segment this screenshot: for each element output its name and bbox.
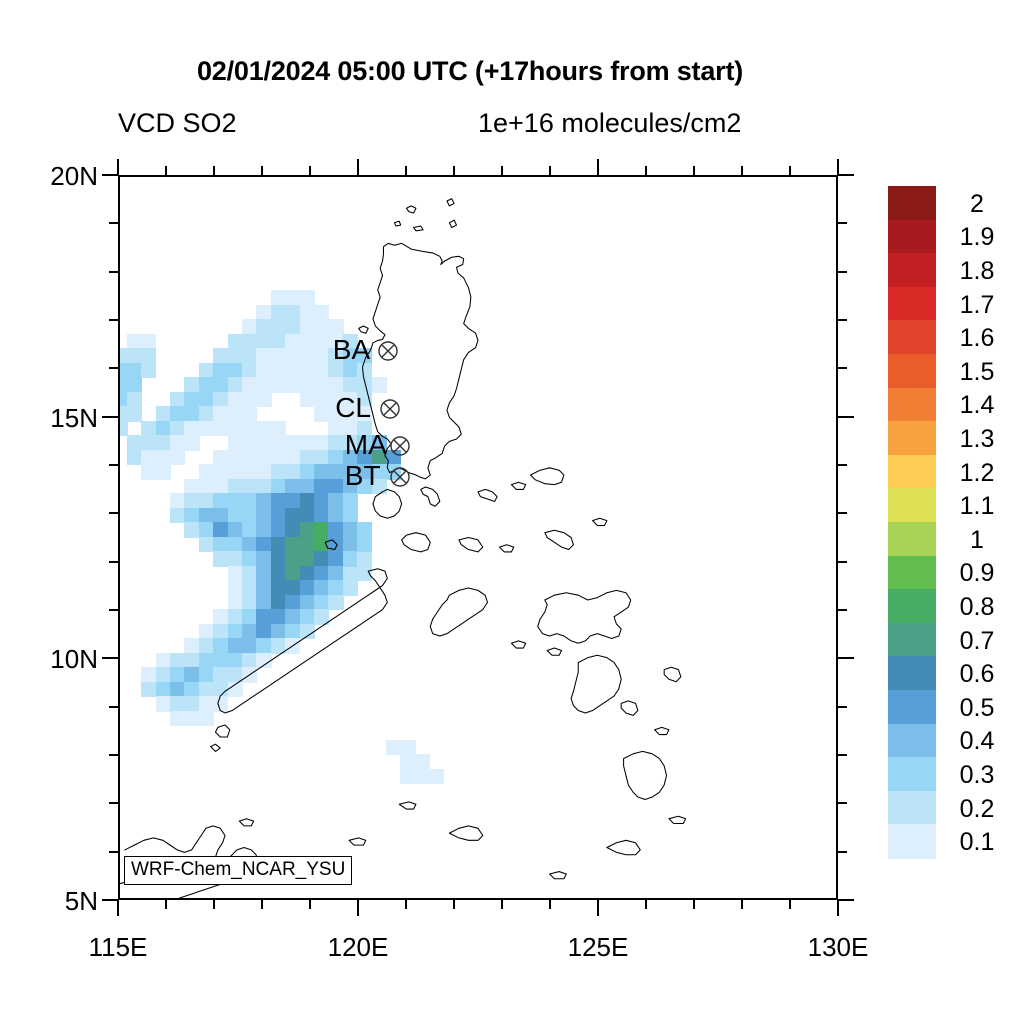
colorbar-band bbox=[888, 623, 936, 657]
axis-tick bbox=[109, 802, 118, 804]
axis-tick bbox=[102, 416, 118, 418]
axis-tick bbox=[597, 900, 599, 916]
axis-tick bbox=[789, 900, 791, 909]
colorbar-band bbox=[888, 253, 936, 287]
colorbar-tick-label: 1.9 bbox=[940, 223, 1014, 252]
colorbar-tick-label: 1.1 bbox=[940, 492, 1014, 521]
colorbar-tick-label: 0.4 bbox=[940, 727, 1014, 756]
colorbar-tick-label: 1.5 bbox=[940, 358, 1014, 387]
axis-tick bbox=[117, 900, 119, 916]
y-axis-tick-label: 15N bbox=[6, 403, 98, 434]
axis-tick bbox=[838, 174, 854, 176]
axis-tick bbox=[838, 706, 847, 708]
axis-tick bbox=[838, 512, 847, 514]
axis-tick bbox=[109, 319, 118, 321]
axis-tick bbox=[261, 166, 263, 175]
station-marker-cl[interactable] bbox=[379, 398, 401, 420]
axis-tick bbox=[741, 900, 743, 909]
axis-tick bbox=[213, 166, 215, 175]
colorbar-tick-label: 1.7 bbox=[940, 291, 1014, 320]
colorbar-band bbox=[888, 220, 936, 254]
colorbar-band bbox=[888, 757, 936, 791]
axis-tick bbox=[261, 900, 263, 909]
axis-tick bbox=[109, 464, 118, 466]
colorbar-band bbox=[888, 724, 936, 758]
axis-tick bbox=[549, 166, 551, 175]
station-label-ma: MA bbox=[345, 431, 387, 459]
station-marker-ba[interactable] bbox=[377, 340, 399, 362]
colorbar-band bbox=[888, 320, 936, 354]
axis-tick bbox=[453, 900, 455, 909]
axis-tick bbox=[109, 609, 118, 611]
axis-tick bbox=[213, 900, 215, 909]
y-axis-tick-label: 10N bbox=[6, 644, 98, 675]
colorbar-band bbox=[888, 522, 936, 556]
variable-label: VCD SO2 bbox=[118, 108, 237, 139]
axis-tick bbox=[693, 900, 695, 909]
colorbar-tick-label: 1.3 bbox=[940, 425, 1014, 454]
station-marker-ma[interactable] bbox=[389, 435, 411, 457]
axis-tick bbox=[838, 899, 854, 901]
units-label: 1e+16 molecules/cm2 bbox=[478, 108, 741, 139]
axis-tick bbox=[549, 900, 551, 909]
colorbar-tick-label: 0.3 bbox=[940, 761, 1014, 790]
axis-tick bbox=[165, 166, 167, 175]
axis-tick bbox=[102, 899, 118, 901]
axis-tick bbox=[838, 319, 847, 321]
model-label-box: WRF-Chem_NCAR_YSU bbox=[124, 856, 352, 885]
axis-tick bbox=[109, 754, 118, 756]
colorbar-band bbox=[888, 589, 936, 623]
axis-tick bbox=[838, 222, 847, 224]
axis-tick bbox=[789, 166, 791, 175]
colorbar-tick-label: 1 bbox=[940, 526, 1014, 555]
axis-tick bbox=[838, 464, 847, 466]
station-label-bt: BT bbox=[345, 462, 381, 490]
colorbar-band bbox=[888, 556, 936, 590]
colorbar-band bbox=[888, 690, 936, 724]
colorbar-tick-label: 0.6 bbox=[940, 660, 1014, 689]
axis-tick bbox=[109, 706, 118, 708]
colorbar-tick-label: 0.8 bbox=[940, 593, 1014, 622]
colorbar-tick-label: 1.8 bbox=[940, 257, 1014, 286]
map-plot-area: WRF-Chem_NCAR_YSU bbox=[118, 175, 838, 900]
axis-tick bbox=[837, 900, 839, 916]
axis-tick bbox=[109, 512, 118, 514]
axis-tick bbox=[102, 174, 118, 176]
axis-tick bbox=[645, 900, 647, 909]
axis-tick bbox=[102, 657, 118, 659]
colorbar bbox=[888, 186, 936, 858]
axis-tick bbox=[109, 561, 118, 563]
station-label-ba: BA bbox=[333, 336, 370, 364]
axis-tick bbox=[597, 159, 599, 175]
axis-tick bbox=[837, 159, 839, 175]
colorbar-band bbox=[888, 388, 936, 422]
axis-tick bbox=[109, 222, 118, 224]
coastline-layer bbox=[120, 177, 836, 898]
axis-tick bbox=[838, 802, 847, 804]
colorbar-tick-label: 0.9 bbox=[940, 559, 1014, 588]
page-title: 02/01/2024 05:00 UTC (+17hours from star… bbox=[0, 56, 940, 87]
axis-tick bbox=[838, 609, 847, 611]
colorbar-band bbox=[888, 455, 936, 489]
axis-tick bbox=[165, 900, 167, 909]
colorbar-band bbox=[888, 824, 936, 858]
axis-tick bbox=[693, 166, 695, 175]
axis-tick bbox=[838, 754, 847, 756]
colorbar-tick-label: 1.6 bbox=[940, 324, 1014, 353]
colorbar-band bbox=[888, 791, 936, 825]
axis-tick bbox=[501, 900, 503, 909]
axis-tick bbox=[405, 900, 407, 909]
axis-tick bbox=[405, 166, 407, 175]
axis-tick bbox=[741, 166, 743, 175]
colorbar-band bbox=[888, 421, 936, 455]
axis-tick bbox=[645, 166, 647, 175]
axis-tick bbox=[109, 271, 118, 273]
axis-tick bbox=[838, 851, 847, 853]
colorbar-tick-label: 1.4 bbox=[940, 391, 1014, 420]
station-marker-bt[interactable] bbox=[389, 466, 411, 488]
axis-tick bbox=[357, 900, 359, 916]
model-label-text: WRF-Chem_NCAR_YSU bbox=[131, 859, 345, 880]
axis-tick bbox=[117, 159, 119, 175]
axis-tick bbox=[838, 561, 847, 563]
colorbar-tick-label: 0.7 bbox=[940, 627, 1014, 656]
x-axis-tick-label: 120E bbox=[298, 932, 418, 963]
colorbar-tick-label: 0.2 bbox=[940, 795, 1014, 824]
axis-tick bbox=[357, 159, 359, 175]
y-axis-tick-label: 5N bbox=[6, 886, 98, 917]
colorbar-band bbox=[888, 186, 936, 220]
axis-tick bbox=[309, 900, 311, 909]
axis-tick bbox=[453, 166, 455, 175]
axis-tick bbox=[838, 271, 847, 273]
colorbar-band bbox=[888, 354, 936, 388]
axis-tick bbox=[501, 166, 503, 175]
axis-tick bbox=[109, 851, 118, 853]
colorbar-band bbox=[888, 656, 936, 690]
x-axis-tick-label: 125E bbox=[538, 932, 658, 963]
colorbar-tick-label: 2 bbox=[940, 190, 1014, 219]
colorbar-tick-label: 0.5 bbox=[940, 694, 1014, 723]
axis-tick bbox=[838, 416, 854, 418]
colorbar-tick-label: 1.2 bbox=[940, 459, 1014, 488]
axis-tick bbox=[109, 367, 118, 369]
colorbar-band bbox=[888, 488, 936, 522]
axis-tick bbox=[838, 367, 847, 369]
y-axis-tick-label: 20N bbox=[6, 161, 98, 192]
axis-tick bbox=[309, 166, 311, 175]
x-axis-tick-label: 130E bbox=[778, 932, 898, 963]
colorbar-band bbox=[888, 287, 936, 321]
axis-tick bbox=[838, 657, 854, 659]
x-axis-tick-label: 115E bbox=[58, 932, 178, 963]
colorbar-tick-label: 0.1 bbox=[940, 828, 1014, 857]
station-label-cl: CL bbox=[335, 394, 371, 422]
